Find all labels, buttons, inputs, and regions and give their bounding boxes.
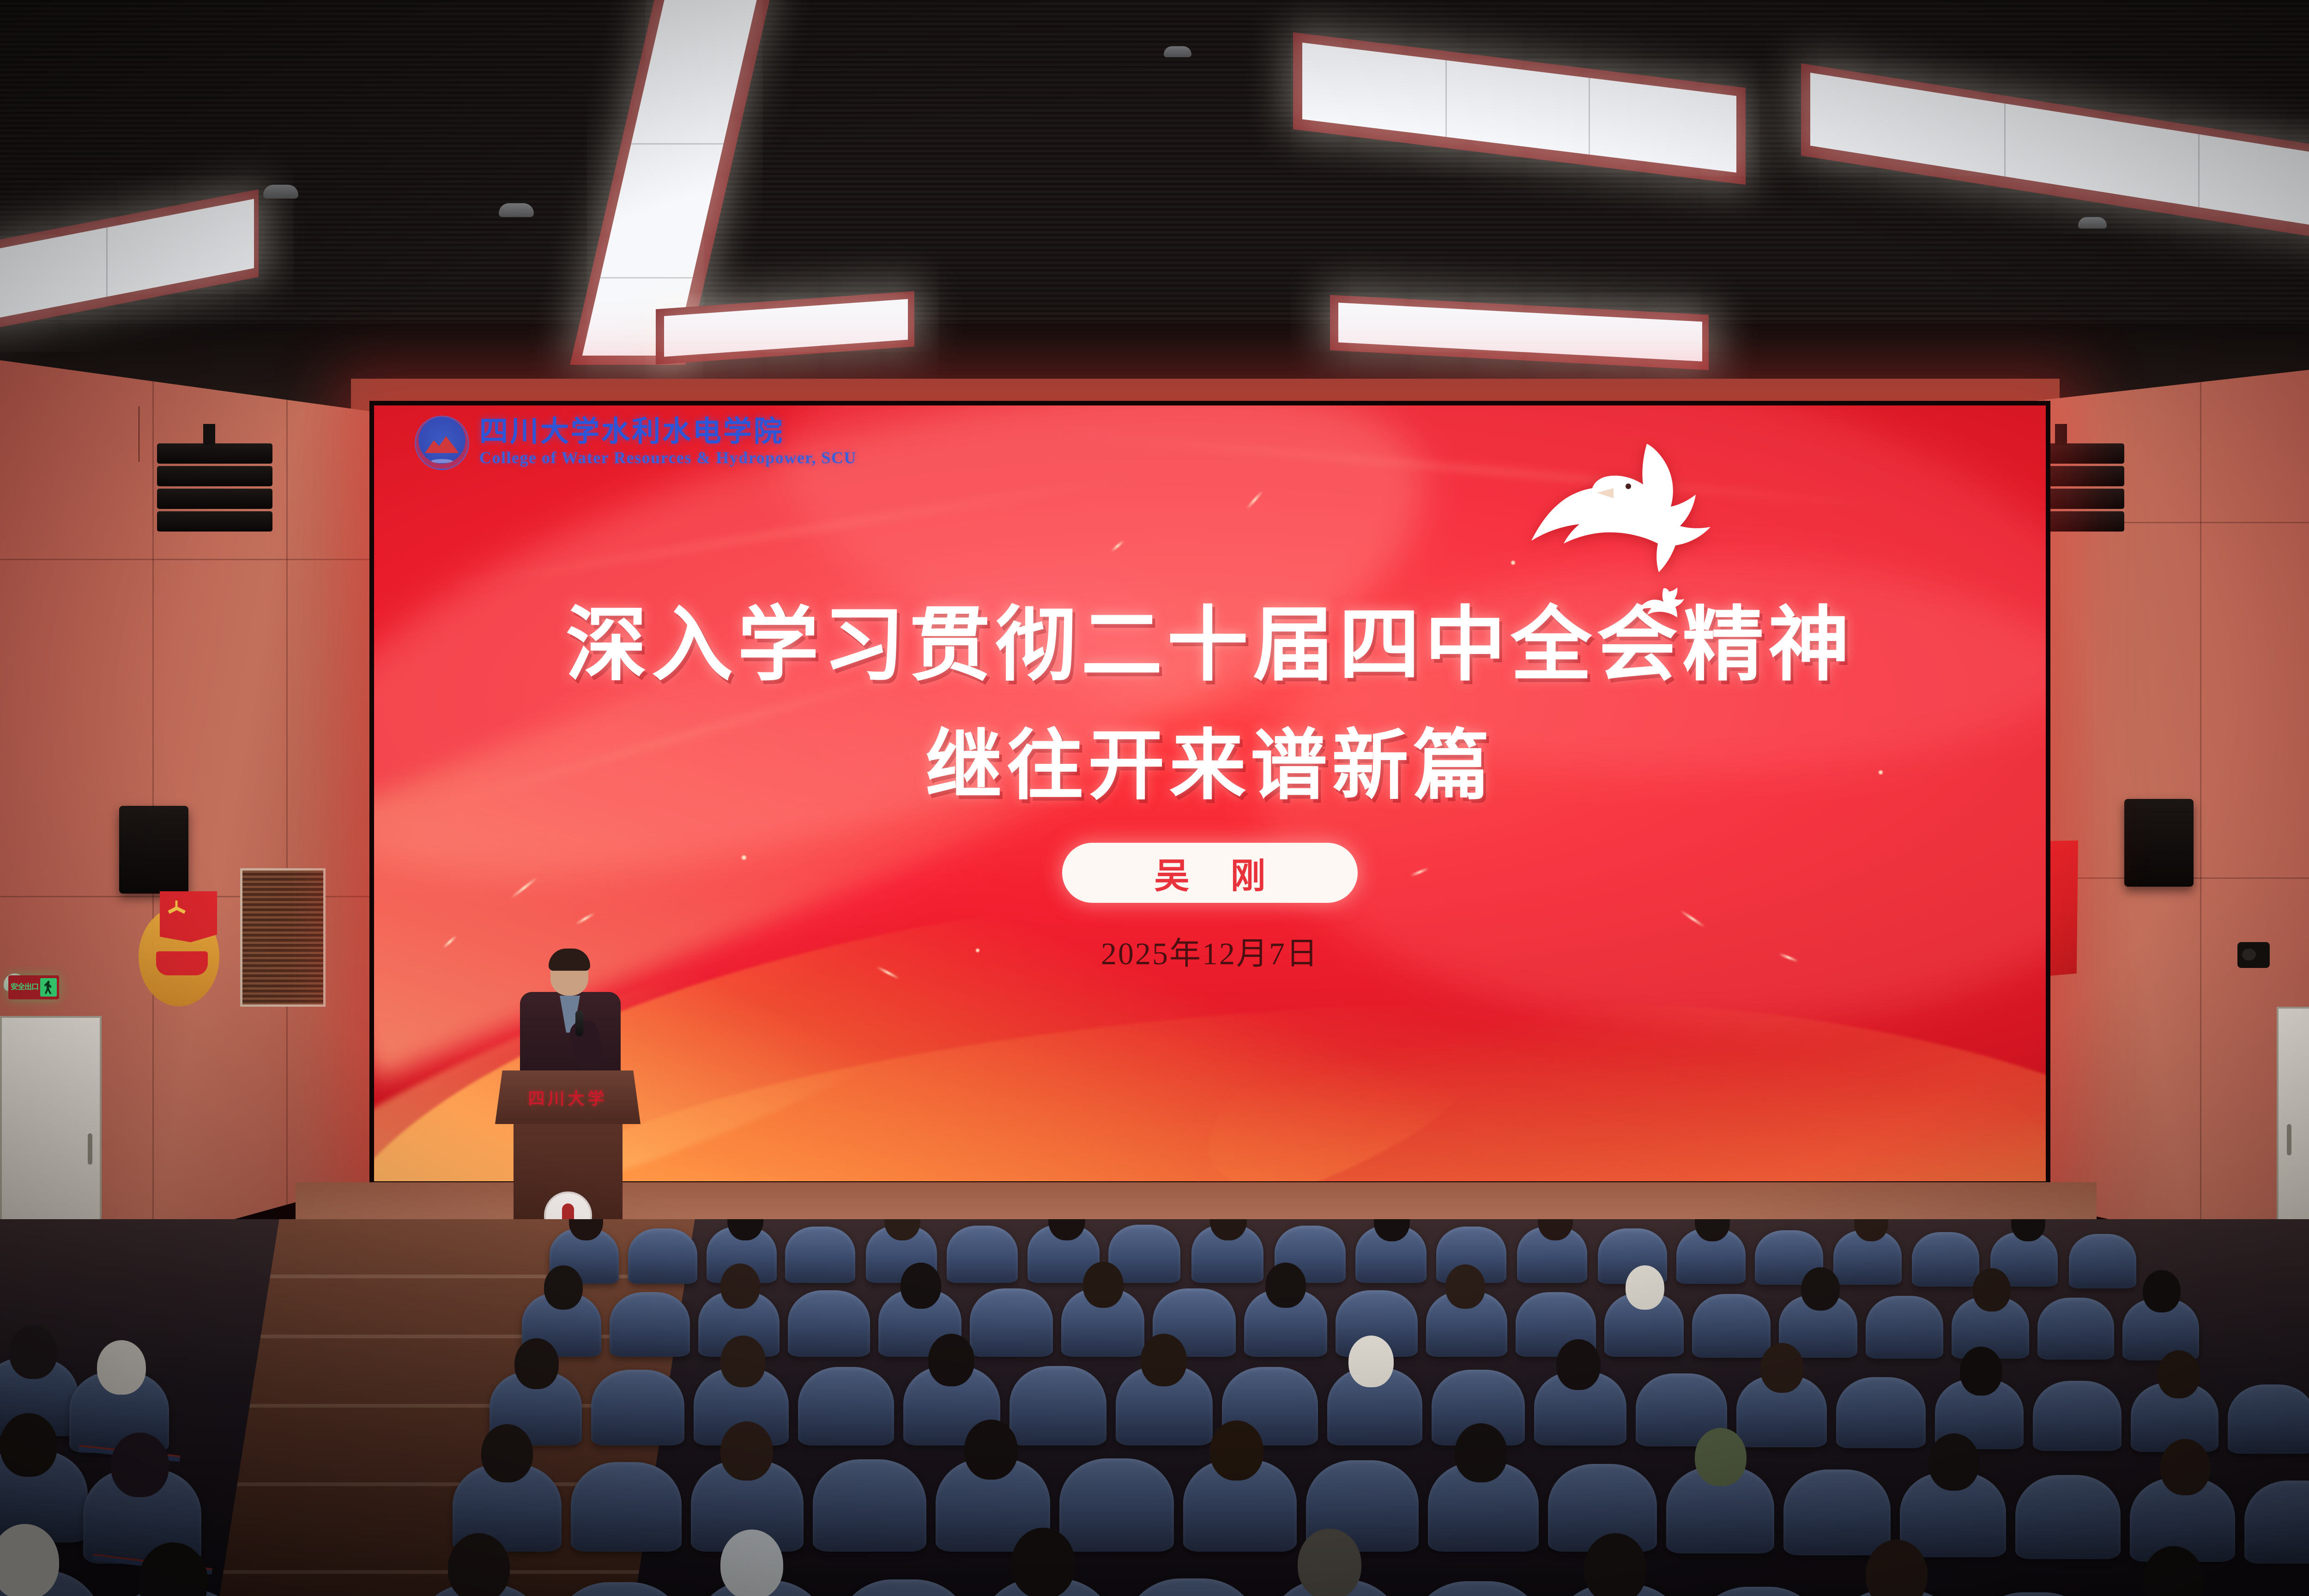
audience-head <box>1760 1343 1804 1393</box>
audience-head <box>928 1334 974 1386</box>
wall-speaker-right <box>2124 799 2194 887</box>
seat[interactable] <box>1783 1469 1891 1555</box>
exit-sign-left[interactable]: 安全出口 <box>8 975 59 999</box>
seat[interactable] <box>2069 1234 2136 1288</box>
seat[interactable] <box>628 1228 697 1284</box>
handheld-microphone-icon <box>575 1010 583 1036</box>
screen-headline: 深入学习贯彻二十届四中全会精神 继往开来谱新篇 吴 刚 2025年12月7日 <box>374 604 2046 973</box>
seat[interactable] <box>788 1290 870 1357</box>
audience-head <box>1210 1421 1263 1481</box>
podium-label: 四川大学 <box>528 1085 607 1109</box>
line-array-speaker-left <box>157 443 272 532</box>
seat[interactable] <box>1694 1587 1823 1596</box>
seat[interactable] <box>813 1459 926 1552</box>
audience-head <box>720 1421 773 1481</box>
seat[interactable] <box>2037 1298 2114 1360</box>
audience-head <box>720 1263 760 1309</box>
seat[interactable] <box>610 1292 690 1357</box>
title-line-2: 继往开来谱新篇 <box>374 727 2046 805</box>
seat[interactable] <box>1836 1377 1926 1448</box>
seat[interactable] <box>2228 1384 2309 1454</box>
seat[interactable] <box>947 1226 1018 1283</box>
audience-head <box>1083 1262 1124 1308</box>
seat[interactable] <box>571 1462 682 1552</box>
seat[interactable] <box>785 1227 855 1283</box>
speaker-hang-wire-left <box>139 406 139 462</box>
audience-head <box>0 1413 57 1477</box>
audience-head <box>1298 1529 1361 1596</box>
door-handle-left[interactable] <box>88 1133 92 1165</box>
audience-head <box>514 1338 559 1389</box>
smoke-detector-1 <box>263 185 298 199</box>
speaker-rig-left <box>203 424 215 445</box>
exit-sign-label: 安全出口 <box>11 984 38 991</box>
door-handle-right[interactable] <box>2287 1124 2291 1155</box>
audience-head <box>1141 1334 1187 1386</box>
audience-head <box>2143 1270 2181 1312</box>
seat[interactable] <box>1912 1232 1979 1287</box>
logo-chinese-name: 四川大学水利水电学院 <box>479 417 857 446</box>
smoke-detector-4 <box>2078 217 2107 229</box>
seat[interactable] <box>798 1367 894 1445</box>
audience-head <box>1695 1428 1747 1486</box>
wooden-louver-vent-left <box>240 868 326 1007</box>
audience-head <box>2160 1439 2210 1495</box>
title-line-1: 深入学习贯彻二十届四中全会精神 <box>374 604 2046 687</box>
seat[interactable] <box>1866 1296 1943 1359</box>
audience-head <box>720 1336 766 1387</box>
seat[interactable] <box>1009 1366 1106 1445</box>
seat[interactable] <box>1059 1458 1174 1552</box>
seat[interactable] <box>2033 1381 2122 1451</box>
white-dove-large-icon <box>1529 431 1732 583</box>
audience-head <box>720 1529 783 1596</box>
auditorium-photo: 安全出口 安全出口 <box>0 0 2309 1596</box>
college-logo: 四川大学水利水电学院 College of Water Resources & … <box>415 416 857 470</box>
audience-head <box>481 1424 533 1482</box>
seat[interactable] <box>1411 1581 1544 1596</box>
audience-head <box>1960 1347 2002 1396</box>
emblem-plaque-text-block <box>156 951 208 975</box>
smoke-detector-2 <box>499 203 534 217</box>
seat[interactable] <box>2244 1481 2309 1564</box>
presenter-hair <box>549 949 590 971</box>
audience-head <box>1801 1267 1840 1311</box>
podium-top: 四川大学 <box>495 1070 641 1124</box>
logo-english-name: College of Water Resources & Hydropower,… <box>479 448 857 467</box>
audience-head <box>1973 1268 2011 1312</box>
audience-area <box>0 1219 2309 1596</box>
led-screen: 四川大学水利水电学院 College of Water Resources & … <box>374 405 2046 1181</box>
smoke-detector-3 <box>1164 46 1191 57</box>
seat[interactable] <box>1124 1578 1259 1596</box>
seat[interactable] <box>837 1579 971 1596</box>
speaker-rig-right <box>2055 424 2067 445</box>
party-emblem-plaque <box>139 891 226 1007</box>
speaker-name: 吴 刚 <box>1138 847 1281 898</box>
seat[interactable] <box>1692 1294 1771 1358</box>
wall-speaker-left <box>119 806 188 894</box>
ptz-camera-right <box>2237 942 2270 968</box>
audience-head <box>1928 1433 1979 1491</box>
seat[interactable] <box>1970 1592 2097 1596</box>
audience-head <box>1445 1264 1485 1309</box>
seat[interactable] <box>591 1370 684 1445</box>
speaker-name-pill: 吴 刚 <box>1062 843 1358 903</box>
audience-head <box>9 1325 57 1379</box>
audience-head <box>544 1265 583 1310</box>
scu-seal-icon <box>415 416 469 470</box>
seat[interactable] <box>970 1288 1053 1357</box>
audience-head <box>1011 1528 1075 1596</box>
audience-head <box>1348 1336 1394 1387</box>
seat[interactable] <box>2015 1475 2121 1559</box>
speaker-presenter <box>517 951 623 1090</box>
audience-head <box>97 1340 146 1395</box>
sparkle-dot-2 <box>1511 561 1515 565</box>
audience-head <box>901 1263 941 1309</box>
running-man-icon <box>40 978 57 997</box>
audience-head <box>2158 1350 2200 1398</box>
talk-date: 2025年12月7日 <box>374 928 2046 973</box>
audience-head <box>111 1433 169 1497</box>
audience-head <box>1455 1423 1507 1482</box>
audience-head <box>1626 1265 1664 1310</box>
audience-head <box>1556 1339 1601 1390</box>
audience-head <box>1265 1263 1306 1308</box>
audience-head <box>964 1420 1018 1480</box>
